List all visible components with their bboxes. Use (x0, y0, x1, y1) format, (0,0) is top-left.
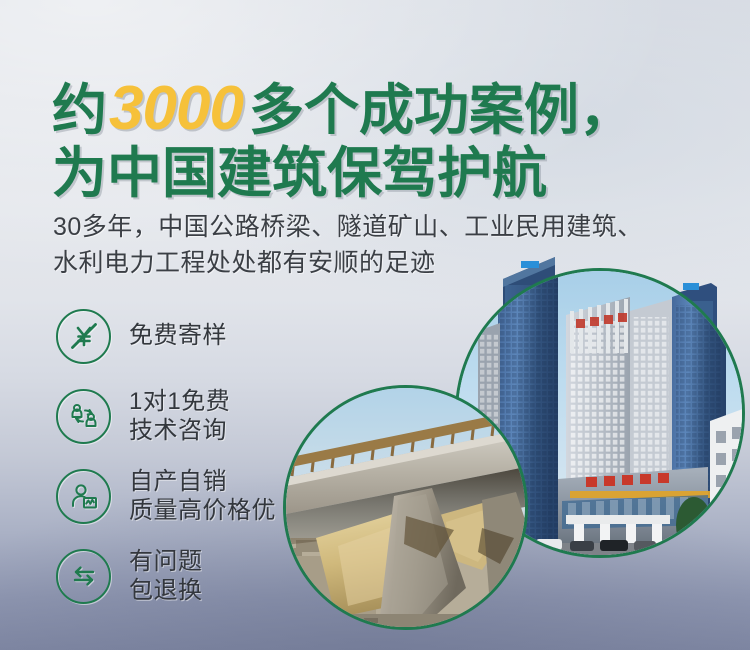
promo-banner: 约 3000 多个成功案例， 为中国建筑保驾护航 30多年，中国公路桥梁、隧道矿… (0, 0, 750, 650)
feature-label: 1对1免费 技术咨询 (129, 387, 230, 446)
one-on-one-consult-icon (56, 389, 111, 444)
feature-item-free-sample: 免费寄样 (56, 296, 316, 376)
bridge-photo (283, 385, 528, 630)
headline-suffix: 多个成功案例， (249, 83, 634, 138)
feature-item-return: 有问题 包退换 (56, 536, 316, 616)
feature-label: 自产自销 质量高价格优 (129, 467, 276, 526)
feature-item-quality: 自产自销 质量高价格优 (56, 456, 316, 536)
headline-prefix: 约 (52, 83, 107, 138)
headline: 约 3000 多个成功案例， 为中国建筑保驾护航 (52, 78, 634, 201)
feature-item-consult: 1对1免费 技术咨询 (56, 376, 316, 456)
headline-number: 3000 (107, 78, 249, 140)
feature-label: 有问题 包退换 (129, 547, 203, 606)
headline-line2: 为中国建筑保驾护航 (52, 146, 634, 201)
self-production-quality-icon (56, 469, 111, 524)
feature-list: 免费寄样 1对1免费 技术咨询 (56, 296, 316, 616)
subtitle: 30多年，中国公路桥梁、隧道矿山、工业民用建筑、 水利电力工程处处都有安顺的足迹 (53, 210, 643, 281)
exchange-return-icon (56, 549, 111, 604)
subtitle-line2: 水利电力工程处处都有安顺的足迹 (53, 246, 643, 282)
headline-line1: 约 3000 多个成功案例， (52, 78, 634, 140)
feature-label: 免费寄样 (129, 321, 227, 350)
no-fee-icon (56, 309, 111, 364)
subtitle-line1: 30多年，中国公路桥梁、隧道矿山、工业民用建筑、 (53, 210, 643, 246)
